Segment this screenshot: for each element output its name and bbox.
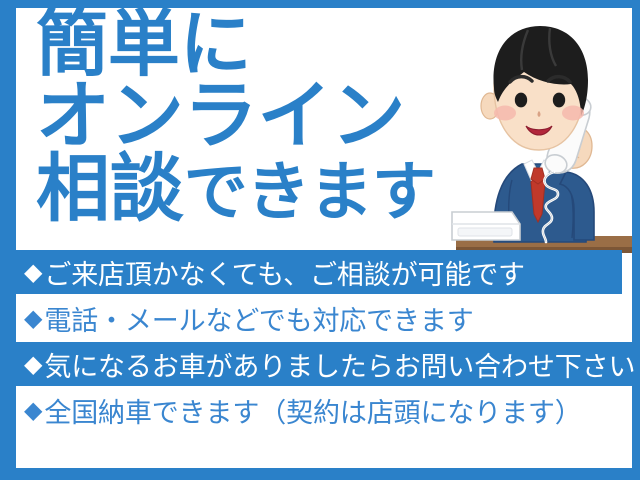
headline-line-3-main: 相談 [36,146,184,232]
list-item-label: 全国納車できます（契約は店頭になります） [44,391,581,430]
headline-line-3-tail: できます [184,156,435,230]
list-item-label: 電話・メールなどでも対応できます [44,299,473,338]
list-item: ◆ ご来店頂かなくても、ご相談が可能です [0,250,622,294]
list-item-label: 気になるお車がありましたらお問い合わせ下さい [44,345,635,384]
promo-poster: 簡単に オンライン 相談できます ◆ ご来店頂かなくても、ご相談が可能です ◆ … [0,0,640,480]
diamond-bullet-icon: ◆ [24,398,42,422]
list-item-label: ご来店頂かなくても、ご相談が可能です [44,253,525,292]
headline: 簡単に オンライン 相談できます [36,10,506,225]
headline-line-2: オンライン [36,81,506,152]
diamond-bullet-icon: ◆ [24,306,42,330]
benefits-list: ◆ ご来店頂かなくても、ご相談が可能です ◆ 電話・メールなどでも対応できます … [0,250,640,432]
diamond-bullet-icon: ◆ [24,352,42,376]
diamond-bullet-icon: ◆ [24,260,42,284]
headline-line-1: 簡単に [36,10,506,79]
headline-line-3: 相談できます [36,154,506,225]
list-item: ◆ 電話・メールなどでも対応できます [0,296,622,340]
list-item: ◆ 全国納車できます（契約は店頭になります） [0,388,622,432]
list-item: ◆ 気になるお車がありましたらお問い合わせ下さい [0,342,640,386]
